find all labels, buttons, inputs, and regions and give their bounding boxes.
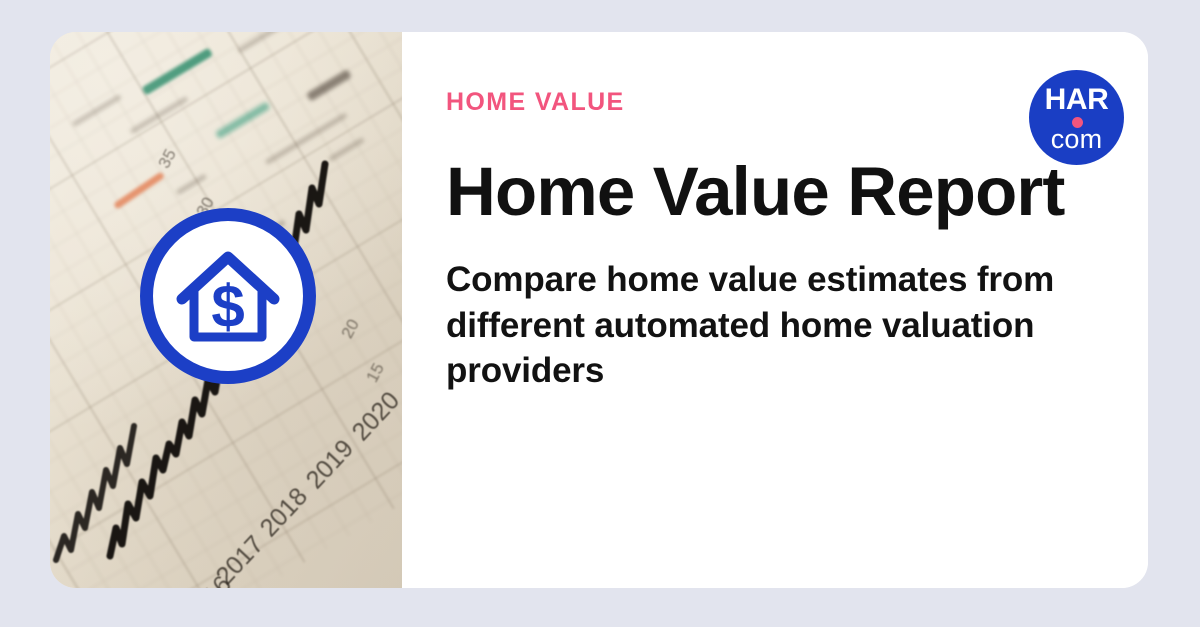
page-subtitle: Compare home value estimates from differ… <box>446 257 1086 394</box>
content-panel: HOME VALUE Home Value Report Compare hom… <box>402 32 1148 588</box>
hero-photo-panel: 35 30 25 20 15 2016 2017 2018 2019 2020 <box>50 32 402 588</box>
eyebrow-label: HOME VALUE <box>446 90 1108 115</box>
house-with-dollar-icon: $ <box>176 247 280 345</box>
screenshot-stage: 35 30 25 20 15 2016 2017 2018 2019 2020 <box>0 0 1200 627</box>
har-com-logo[interactable]: HAR com <box>1029 70 1124 165</box>
logo-har-text: HAR <box>1045 85 1109 115</box>
report-card: 35 30 25 20 15 2016 2017 2018 2019 2020 <box>50 32 1148 588</box>
page-title: Home Value Report <box>446 157 1108 227</box>
logo-com-text: com <box>1051 126 1102 153</box>
house-dollar-badge: $ <box>140 208 316 384</box>
svg-text:$: $ <box>211 273 244 340</box>
